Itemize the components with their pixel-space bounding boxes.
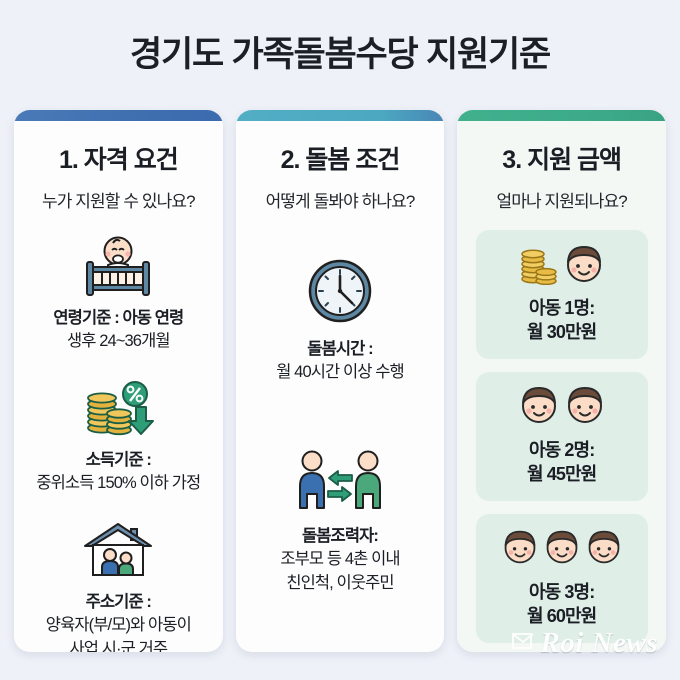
care-text: 돌봄시간 : 월 40시간 이상 수행	[276, 338, 404, 385]
card-subtitle: 누가 지원할 수 있나요?	[42, 187, 195, 212]
children-count-label: 아동 2명:	[527, 438, 596, 462]
criteria-line: 양육자(부/모)와 아동이	[46, 614, 191, 637]
child-face-icon	[543, 528, 581, 571]
child-face-icon	[585, 528, 623, 571]
criteria-text: 소득기준 : 중위소득 150% 이하 가정	[36, 449, 200, 496]
care-line: 돌봄시간 :	[276, 338, 404, 361]
eligibility-items: 연령기준 : 아동 연령 생후 24~36개월	[24, 212, 213, 652]
criteria-line: 생후 24~36개월	[53, 330, 183, 353]
care-line: 조부모 등 4촌 이내	[280, 548, 399, 571]
amount-icons	[501, 527, 623, 573]
criteria-text: 주소기준 : 양육자(부/모)와 아동이 사업 시·군 거주	[46, 591, 191, 652]
amount-list: 아동 1명: 월 30만원	[467, 230, 656, 643]
care-items: 돌봄시간 : 월 40시간 이상 수행	[246, 212, 435, 595]
card-accent-bar	[457, 110, 666, 121]
care-item-hours: 돌봄시간 : 월 40시간 이상 수행	[246, 258, 435, 385]
clock-icon	[307, 258, 373, 324]
care-line: 친인척, 이웃주민	[280, 572, 399, 595]
children-count-label: 아동 3명:	[527, 580, 596, 604]
amount-text: 아동 2명: 월 45만원	[527, 438, 596, 487]
criteria-line: 중위소득 150% 이하 가정	[36, 472, 200, 495]
child-face-icon	[564, 384, 606, 431]
baby-crib-icon	[81, 234, 155, 296]
two-people-exchange-icon	[294, 449, 386, 511]
criteria-item-address: 주소기준 : 양육자(부/모)와 아동이 사업 시·군 거주	[24, 520, 213, 652]
amount-box-one-child: 아동 1명: 월 30만원	[476, 230, 648, 359]
coins-percent-down-icon	[81, 380, 155, 438]
house-family-icon	[81, 520, 155, 580]
card-accent-bar	[236, 110, 445, 121]
care-text: 돌봄조력자: 조부모 등 4촌 이내 친인척, 이웃주민	[280, 525, 399, 595]
amount-value-label: 월 60만원	[527, 604, 596, 628]
amount-icons	[518, 385, 606, 431]
amount-value-label: 월 45만원	[527, 462, 596, 486]
child-face-icon	[563, 243, 605, 290]
criteria-text: 연령기준 : 아동 연령 생후 24~36개월	[53, 307, 183, 354]
amount-text: 아동 3명: 월 60만원	[527, 580, 596, 629]
card-title: 2. 돌봄 조건	[281, 140, 400, 176]
amount-text: 아동 1명: 월 30만원	[527, 296, 596, 345]
child-face-icon	[501, 528, 539, 571]
criteria-line: 사업 시·군 거주	[46, 638, 191, 652]
criteria-line: 소득기준 :	[36, 449, 200, 472]
coin-stack-icon	[519, 243, 559, 290]
amount-box-three-children: 아동 3명: 월 60만원	[476, 514, 648, 643]
card-subtitle: 얼마나 지원되나요?	[497, 187, 627, 212]
card-subtitle: 어떻게 돌봐야 하나요?	[266, 187, 415, 212]
care-line: 월 40시간 이상 수행	[276, 361, 404, 384]
criteria-item-income: 소득기준 : 중위소득 150% 이하 가정	[24, 380, 213, 496]
card-care-conditions: 2. 돌봄 조건 어떻게 돌봐야 하나요?	[236, 110, 445, 652]
card-title: 1. 자격 요건	[59, 140, 178, 176]
amount-value-label: 월 30만원	[527, 320, 596, 344]
care-line: 돌봄조력자:	[280, 525, 399, 548]
care-item-helper: 돌봄조력자: 조부모 등 4촌 이내 친인척, 이웃주민	[246, 449, 435, 595]
child-face-icon	[518, 384, 560, 431]
page-title: 경기도 가족돌봄수당 지원기준	[0, 0, 680, 75]
card-eligibility: 1. 자격 요건 누가 지원할 수 있나요?	[14, 110, 223, 652]
children-count-label: 아동 1명:	[527, 296, 596, 320]
card-title: 3. 지원 금액	[502, 140, 621, 176]
amount-icons	[519, 243, 605, 289]
cards-row: 1. 자격 요건 누가 지원할 수 있나요?	[14, 110, 666, 652]
card-support-amount: 3. 지원 금액 얼마나 지원되나요?	[457, 110, 666, 652]
criteria-line: 주소기준 :	[46, 591, 191, 614]
criteria-item-age: 연령기준 : 아동 연령 생후 24~36개월	[24, 234, 213, 354]
amount-box-two-children: 아동 2명: 월 45만원	[476, 372, 648, 501]
card-accent-bar	[14, 110, 223, 121]
criteria-line: 연령기준 : 아동 연령	[53, 307, 183, 330]
